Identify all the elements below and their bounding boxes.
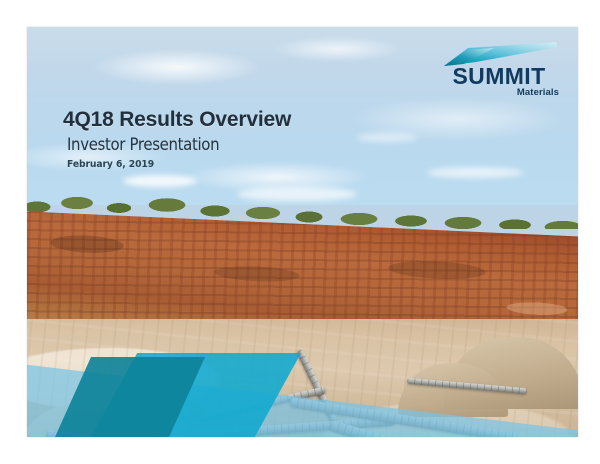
plant-structure	[159, 423, 189, 437]
logo-wordmark: SUMMIT	[438, 65, 560, 88]
slide-date: February 6, 2019	[67, 159, 376, 170]
summit-materials-logo: SUMMIT Materials	[438, 41, 560, 103]
slide-title: 4Q18 Results Overview	[63, 109, 403, 132]
yellow-machinery	[191, 405, 201, 417]
slide-subtitle: Investor Presentation	[67, 136, 363, 155]
quarry-photo	[27, 187, 578, 437]
cloud-shape	[427, 167, 523, 178]
title-block: 4Q18 Results Overview Investor Presentat…	[63, 109, 403, 170]
cloud-shape	[123, 175, 197, 187]
presentation-slide: 4Q18 Results Overview Investor Presentat…	[27, 27, 578, 437]
logo-tagline: Materials	[517, 87, 559, 98]
